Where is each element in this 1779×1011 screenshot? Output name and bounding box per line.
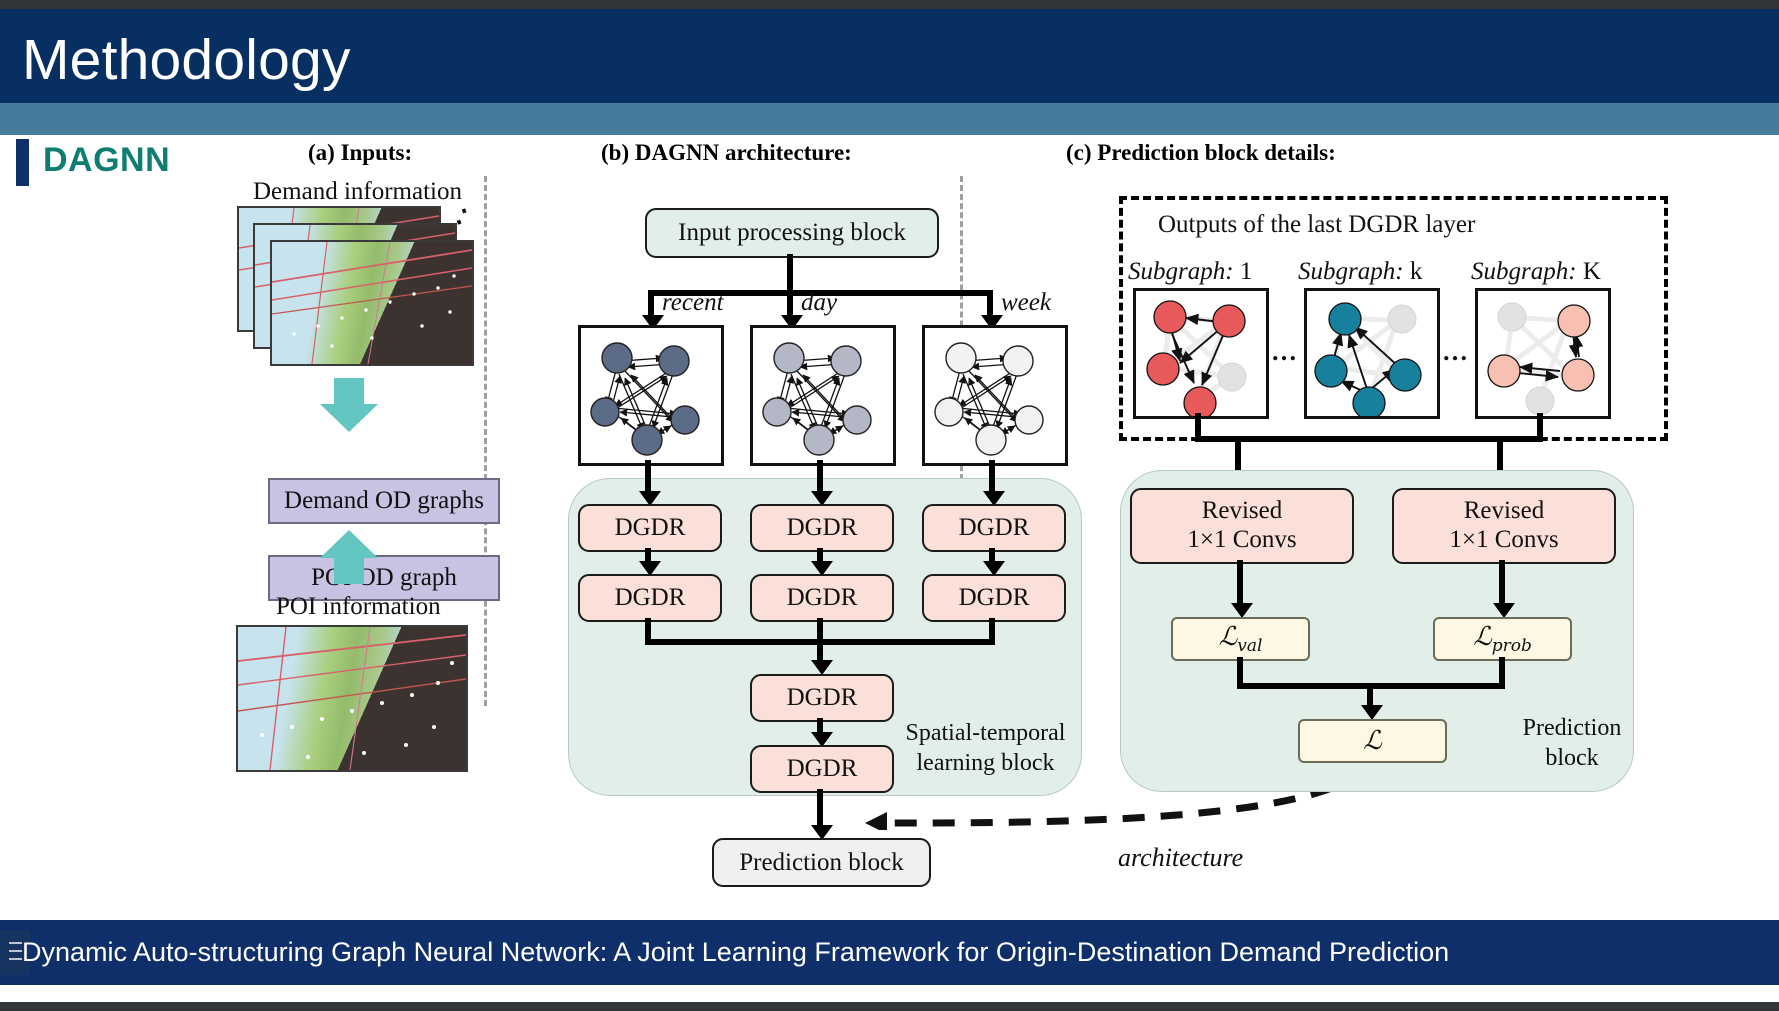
- dgdr-block[interactable]: DGDR: [922, 504, 1066, 552]
- to-prediction-line: [817, 789, 823, 829]
- region-label-line-1: Prediction: [1523, 715, 1622, 741]
- subgraph-index: k: [1410, 258, 1423, 285]
- dgdr-block[interactable]: DGDR: [578, 504, 722, 552]
- graph-to-dgdr-line-week: [989, 460, 995, 494]
- branch-line-day: [787, 290, 793, 318]
- loss-val-box: ℒval: [1171, 617, 1310, 661]
- slide-title-band: Methodology: [0, 9, 1779, 103]
- graph-to-dgdr-line-recent: [645, 460, 651, 494]
- loss-prob-symbol: ℒprob: [1473, 622, 1532, 656]
- demand-map-thumbnail: [270, 240, 474, 366]
- dgdr-block-merged[interactable]: DGDR: [750, 674, 894, 722]
- graph-panel-week: [922, 325, 1068, 466]
- window-bottom-strip: [0, 1002, 1779, 1011]
- region-label-line-1: Spatial-temporal: [906, 720, 1066, 746]
- dgdr-block[interactable]: DGDR: [750, 574, 894, 622]
- panel-b-caption: (b) DAGNN architecture:: [601, 140, 852, 166]
- revised-conv-block-left[interactable]: Revised 1×1 Convs: [1130, 488, 1354, 564]
- demand-information-label: Demand information: [253, 178, 462, 206]
- branch-line-recent: [648, 290, 654, 318]
- subgraph-title-K: Subgraph: K: [1471, 258, 1601, 286]
- subgraph-panel-k: [1304, 288, 1440, 419]
- loss-merge-arrow: [1361, 705, 1383, 720]
- panel-divider-a-b: [484, 176, 487, 706]
- subgraph-index: K: [1583, 258, 1601, 285]
- graph-panel-recent: [578, 325, 724, 466]
- conv-to-loss-line-left: [1237, 560, 1243, 608]
- architecture-feedback-label: architecture: [1118, 843, 1243, 873]
- conv-line-2: 1×1 Convs: [1449, 526, 1558, 555]
- conv-line-2: 1×1 Convs: [1187, 526, 1296, 555]
- total-loss-box: ℒ: [1298, 719, 1447, 763]
- window-top-strip: [0, 0, 1779, 9]
- branch-line-week: [987, 290, 993, 318]
- conv-to-loss-arrow-left: [1231, 603, 1253, 618]
- demand-od-graphs-box[interactable]: Demand OD graphs: [268, 478, 500, 524]
- conv-line-1: Revised: [1464, 497, 1545, 526]
- merge-arrow: [811, 660, 833, 675]
- subgraph-ellipsis-2: …: [1442, 337, 1470, 367]
- subgraph-out-bus: [1195, 436, 1543, 442]
- subgraph-title-1: Subgraph: 1: [1128, 258, 1252, 286]
- prediction-block-region-label: Prediction block: [1502, 713, 1642, 773]
- subgraph-ellipsis-1: …: [1271, 337, 1299, 367]
- conv-to-loss-line-right: [1499, 560, 1505, 608]
- region-label-line-2: block: [1545, 745, 1598, 771]
- branch-label-week: week: [1001, 289, 1051, 317]
- dgdr-block[interactable]: DGDR: [922, 574, 1066, 622]
- loss-val-symbol: ℒval: [1219, 622, 1263, 656]
- input-processing-block[interactable]: Input processing block: [645, 208, 939, 258]
- prediction-block-node[interactable]: Prediction block: [712, 838, 931, 887]
- outputs-title: Outputs of the last DGDR layer: [1158, 211, 1475, 239]
- section-label: DAGNN: [43, 141, 170, 180]
- conv-line-1: Revised: [1202, 497, 1283, 526]
- merge-line-day: [817, 618, 823, 665]
- footer-title: Dynamic Auto-structuring Graph Neural Ne…: [22, 930, 1762, 975]
- subgraph-prefix: Subgraph:: [1298, 258, 1404, 285]
- branch-label-day: day: [801, 289, 837, 317]
- graph-to-dgdr-line-day: [817, 460, 823, 494]
- conv-to-loss-arrow-right: [1493, 603, 1515, 618]
- branch-label-recent: recent: [662, 289, 724, 317]
- panel-a-caption: (a) Inputs:: [308, 140, 412, 166]
- dgdr-block[interactable]: DGDR: [750, 504, 894, 552]
- poi-information-label: POI information: [276, 593, 441, 621]
- page-title: Methodology: [22, 27, 351, 93]
- panel-c-caption: (c) Prediction block details:: [1066, 140, 1336, 166]
- slide-accent-band: [0, 103, 1779, 135]
- subgraph-prefix: Subgraph:: [1471, 258, 1577, 285]
- dgdr-block[interactable]: DGDR: [578, 574, 722, 622]
- subgraph-index: 1: [1240, 258, 1253, 285]
- subgraph-panel-K: [1475, 288, 1611, 419]
- subgraph-prefix: Subgraph:: [1128, 258, 1234, 285]
- graph-panel-day: [750, 325, 896, 466]
- poi-map-thumbnail: [236, 625, 468, 772]
- section-accent-bar: [16, 139, 29, 186]
- revised-conv-block-right[interactable]: Revised 1×1 Convs: [1392, 488, 1616, 564]
- subgraph-title-k: Subgraph: k: [1298, 258, 1422, 286]
- loss-prob-box: ℒprob: [1433, 617, 1572, 661]
- subgraph-panel-1: [1133, 288, 1269, 419]
- total-loss-symbol: ℒ: [1363, 726, 1382, 756]
- input-trunk-line: [787, 254, 793, 292]
